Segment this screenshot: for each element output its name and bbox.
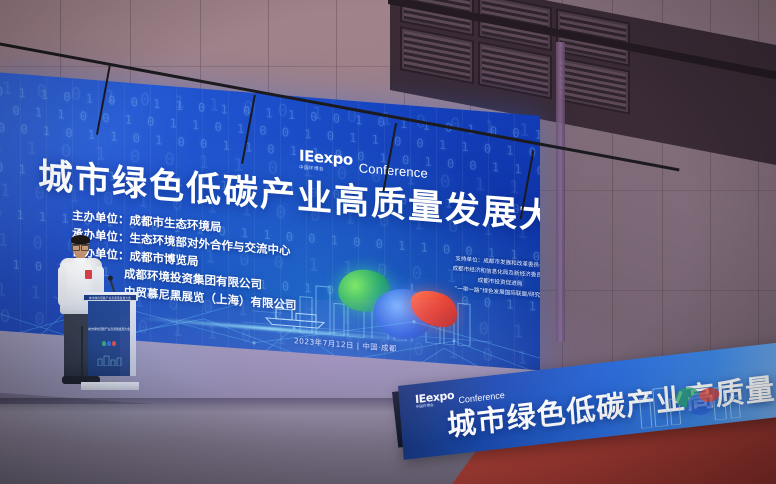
stage-light-off	[494, 119, 519, 152]
podium-logo	[102, 341, 116, 346]
speaker-glasses	[72, 244, 89, 248]
speaker-left-arm	[58, 266, 67, 306]
stage-light-off	[357, 89, 382, 122]
podium-nameplate-text: 城市绿色低碳产业高质量发展大会	[89, 296, 131, 300]
speaker-name-badge	[85, 270, 92, 279]
stage-light-white	[584, 138, 609, 171]
truss-support-stand	[520, 150, 535, 219]
front-banner-brand-cn: 中国环博会	[416, 403, 434, 410]
stage-light-white	[312, 81, 337, 114]
podium-base	[81, 382, 139, 390]
truss-support-stand	[96, 66, 111, 135]
stage-light-blue	[539, 127, 564, 160]
podium-top-nameplate: 城市绿色低碳产业高质量发展大会	[84, 295, 136, 300]
podium-panel-title: 城市绿色低碳产业高质量发展大会	[88, 327, 130, 332]
conference-stage-photo: 1 0 0 1 0 1 1 0 0 1 0 1 0 0 1 1 0 1 0 0 …	[0, 0, 776, 484]
stage-light-white	[449, 108, 474, 141]
stage-light-blue	[0, 11, 2, 44]
stage-light-blue	[71, 30, 96, 63]
speaker-leg-gap	[81, 326, 83, 378]
front-banner-artwork	[628, 368, 751, 429]
stage-light-white	[22, 19, 47, 52]
truss-support-stand	[382, 123, 397, 192]
speaker-hair	[71, 235, 90, 244]
podium-side-panel	[130, 301, 136, 376]
stage-light-blue	[404, 100, 429, 133]
podium-front-panel: 城市绿色低碳产业高质量发展大会	[88, 301, 130, 376]
podium: 城市绿色低碳产业高质量发展大会 城市绿色低碳产业高质量发展大会	[86, 292, 134, 384]
podium-skyline-graphic	[94, 354, 124, 366]
truss-support-stand	[241, 95, 256, 164]
